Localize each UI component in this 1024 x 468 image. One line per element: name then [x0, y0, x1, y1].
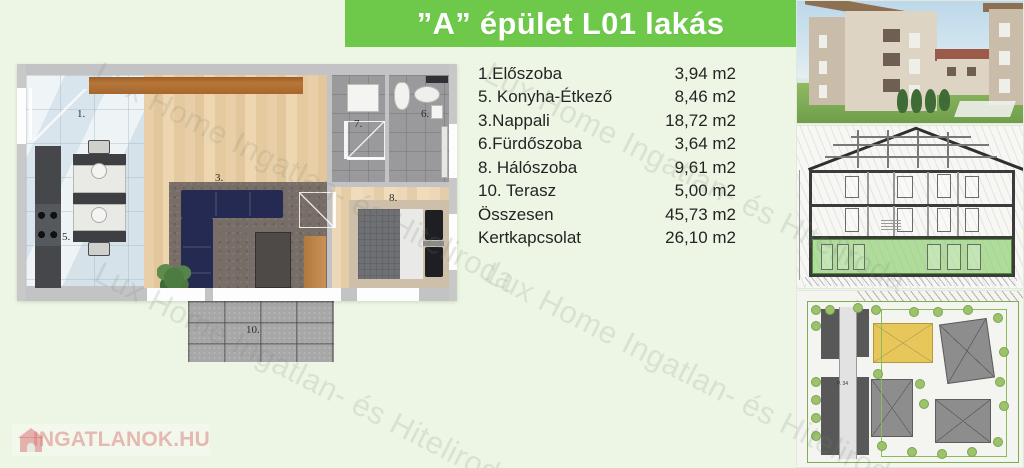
dining-bench-mid	[73, 193, 126, 204]
floorplan-poster: 1. 3. 5. 6. 7. 8. 10. ”A” épület L01 lak…	[0, 0, 1024, 468]
pergola-canopy	[954, 101, 1016, 117]
building-main-side	[809, 17, 845, 105]
wall-section-right	[1012, 170, 1015, 277]
label-room-wc: 7.	[354, 118, 362, 130]
partition-1	[867, 172, 869, 204]
table-row: 1.Előszoba 3,94 m2	[478, 62, 778, 86]
window-render-10	[947, 67, 956, 76]
room-name: Kertkapcsolat	[478, 228, 656, 248]
section-door-2	[897, 176, 913, 198]
floor-plan: 1. 3. 5. 6. 7. 8.	[17, 64, 457, 301]
slab-attic	[809, 170, 1015, 173]
window-render-14	[999, 79, 1010, 93]
tree-10	[909, 307, 919, 317]
wc-threshold	[347, 157, 385, 160]
tree-2	[811, 321, 821, 331]
bed-pillow-1	[425, 210, 443, 240]
section-door-g6	[967, 244, 981, 270]
kitchen-counter-lower	[35, 246, 61, 291]
partition-4	[957, 172, 959, 204]
window-render-5	[909, 59, 920, 74]
room-name: 8. Hálószoba	[478, 158, 656, 178]
truss-post-1	[857, 130, 859, 168]
section-door-7	[937, 208, 951, 232]
section-door-8	[965, 208, 979, 232]
tree-11	[933, 307, 943, 317]
exterior-render-image[interactable]	[796, 0, 1024, 124]
tree-21	[877, 441, 887, 451]
tree-7	[825, 305, 835, 315]
dining-chair-2	[88, 242, 110, 256]
sofa-seam-3	[183, 246, 211, 248]
section-door-g5	[947, 244, 961, 270]
wall-interior-horizontal-bath	[330, 182, 449, 187]
partition-2	[893, 172, 895, 204]
kitchen-stove-icon	[35, 204, 61, 246]
window-render-2	[883, 53, 900, 66]
nightstand-icon	[423, 241, 444, 246]
bath-mirror-icon	[426, 76, 448, 83]
table-row: Kertkapcsolat 26,10 m2	[478, 227, 778, 251]
partition-5	[867, 206, 869, 236]
window-render-7	[819, 35, 827, 48]
room-area: 9,61 m2	[656, 158, 778, 178]
shrub-3	[925, 89, 936, 113]
label-room-terrace: 10.	[246, 324, 260, 336]
bed-pillow-2	[425, 247, 443, 277]
room-area: 45,73 m2	[656, 205, 778, 225]
section-drawing-image[interactable]	[796, 125, 1024, 289]
toilet-icon	[394, 82, 410, 110]
section-door-g2	[837, 244, 849, 270]
tree-15	[995, 377, 1005, 387]
parking-right-lower	[857, 377, 869, 455]
window-render-9	[819, 85, 827, 98]
room-area: 26,10 m2	[656, 228, 778, 248]
coffee-table	[255, 232, 291, 288]
room-name: 10. Terasz	[478, 181, 656, 201]
washing-machine-icon	[431, 105, 443, 119]
label-room-kitchen: 5.	[62, 231, 70, 243]
tree-1	[811, 305, 821, 315]
tree-20	[907, 447, 917, 457]
sofa-back	[181, 190, 283, 218]
window-bottom-bedroom	[357, 288, 419, 301]
sofa-seam-1	[215, 192, 217, 216]
wardrobe-icon	[304, 236, 326, 288]
window-render-3	[883, 79, 900, 92]
parking-left-upper	[821, 309, 839, 359]
shrub-1	[897, 89, 908, 113]
site-unit-label: P. 34	[837, 381, 848, 387]
house-icon-door	[27, 443, 35, 452]
tree-16	[999, 401, 1009, 411]
page-title: ”A” épület L01 lakás	[417, 6, 725, 42]
window-render-12	[999, 23, 1010, 37]
shrub-4	[939, 89, 950, 111]
truss-beam-2	[825, 156, 997, 158]
site-plan-image[interactable]: P. 34	[796, 290, 1024, 468]
tree-12	[963, 305, 973, 315]
tree-5	[811, 413, 821, 423]
section-door-g4	[927, 244, 941, 270]
site-green-path	[881, 309, 1007, 457]
sidebar-images: P. 34	[796, 0, 1024, 468]
slab-floor-2	[809, 204, 1015, 207]
window-right-bath	[449, 124, 457, 178]
table-row: 5. Konyha-Étkező 8,46 m2	[478, 86, 778, 110]
house-icon	[18, 428, 26, 452]
truss-post-2	[887, 130, 889, 168]
table-row: 6.Fürdőszoba 3,64 m2	[478, 133, 778, 157]
truss-post-3	[917, 130, 919, 168]
window-render-4	[909, 33, 920, 48]
table-row: Összesen 45,73 m2	[478, 203, 778, 227]
wc-cistern-icon	[347, 84, 379, 112]
sofa-seam-2	[249, 192, 251, 216]
tree-8	[853, 303, 863, 313]
label-room-bathroom: 6.	[421, 108, 429, 120]
window-render-13	[999, 51, 1010, 65]
tree-23	[919, 399, 929, 409]
tree-17	[993, 437, 1003, 447]
room-name: Összesen	[478, 205, 656, 225]
room-area: 5,00 m2	[656, 181, 778, 201]
parking-right-upper	[857, 309, 869, 357]
terrace-door	[213, 288, 341, 301]
partition-3	[927, 172, 929, 204]
stair-section	[881, 220, 901, 232]
tree-18	[967, 447, 977, 457]
tree-14	[999, 347, 1009, 357]
tree-19	[937, 449, 947, 459]
room-name: 1.Előszoba	[478, 64, 656, 84]
section-door-5	[845, 208, 859, 232]
shrub-2	[911, 89, 922, 113]
room-name: 3.Nappali	[478, 111, 656, 131]
section-door-1	[845, 176, 859, 198]
tree-4	[811, 395, 821, 405]
room-area: 18,72 m2	[656, 111, 778, 131]
parking-left-lower	[821, 377, 839, 455]
wall-exterior-top	[17, 64, 457, 75]
label-room-bedroom: 8.	[389, 192, 397, 204]
dining-plate-1	[91, 163, 107, 179]
ingatlanok-logo[interactable]: INGATLANOK.HU	[12, 424, 210, 456]
room-schedule-table: 1.Előszoba 3,94 m2 5. Konyha-Étkező 8,46…	[478, 62, 778, 250]
room-area: 3,94 m2	[656, 64, 778, 84]
dimension-line-left	[799, 170, 800, 280]
room-name: 5. Konyha-Étkező	[478, 87, 656, 107]
wc-door-swing	[347, 121, 385, 159]
label-room-living: 3.	[215, 172, 223, 184]
bed-blanket	[358, 209, 400, 279]
window-bottom-living-1	[147, 288, 205, 301]
window-right-bedroom	[449, 214, 457, 270]
window-render-1	[883, 29, 900, 42]
partition-8	[957, 206, 959, 236]
room-area: 8,46 m2	[656, 87, 778, 107]
room-name: 6.Fürdőszoba	[478, 134, 656, 154]
window-left-entry	[17, 88, 26, 144]
terrace-area: 10.	[188, 301, 334, 362]
site-street-hatch	[857, 291, 1024, 301]
tree-13	[993, 313, 1003, 323]
dining-chair-1	[88, 140, 110, 154]
section-door-4	[965, 176, 979, 198]
table-row: 10. Terasz 5,00 m2	[478, 180, 778, 204]
entry-wood-beam	[89, 77, 303, 94]
tree-3	[811, 377, 821, 387]
room-area: 3,64 m2	[656, 134, 778, 154]
section-door-g3	[853, 244, 865, 270]
section-door-3	[937, 174, 951, 198]
sink-basin-icon	[414, 86, 440, 103]
blanket-texture	[358, 209, 400, 279]
table-row: 8. Hálószoba 9,61 m2	[478, 156, 778, 180]
truss-beam-3	[851, 136, 971, 138]
truss-post-4	[947, 132, 949, 168]
tree-9	[871, 305, 881, 315]
label-room-entry: 1.	[77, 108, 85, 120]
partition-7	[927, 206, 929, 236]
kitchen-counter-upper	[35, 146, 61, 204]
wall-interior-wc-bath	[385, 75, 389, 183]
tree-6	[811, 431, 821, 441]
window-render-8	[819, 61, 827, 74]
shower-column-icon	[441, 126, 448, 178]
title-banner: ”A” épület L01 lakás	[345, 0, 796, 47]
foundation-hatch	[805, 277, 1017, 286]
section-door-g1	[821, 244, 833, 270]
logo-text: INGATLANOK.HU	[33, 428, 210, 452]
terrace-tile-grid	[188, 301, 334, 362]
bedroom-door-swing	[299, 192, 335, 228]
dining-bench-bottom	[73, 231, 126, 242]
tree-22	[915, 379, 925, 389]
bed-sheet	[400, 209, 423, 279]
table-row: 3.Nappali 18,72 m2	[478, 109, 778, 133]
tree-24	[873, 369, 883, 379]
window-render-11	[967, 67, 976, 76]
dining-plate-2	[91, 207, 107, 223]
